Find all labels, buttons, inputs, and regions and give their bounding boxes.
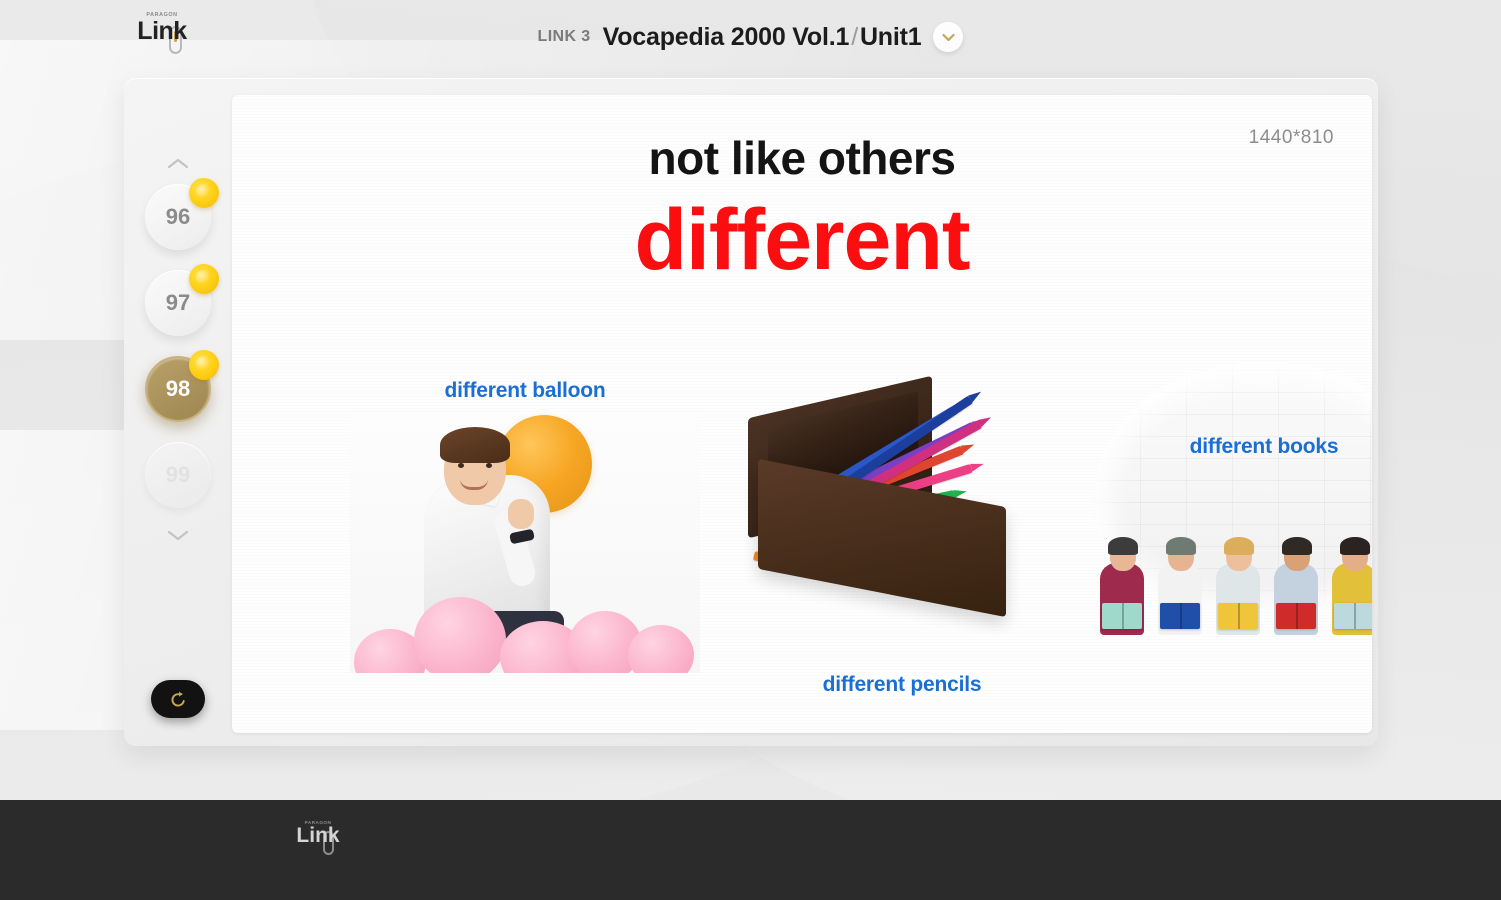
example-label-balloon: different balloon [350,379,700,403]
sidebar-scroll-down-button[interactable] [158,522,198,548]
page-title-right: Unit1 [860,23,922,51]
app-header: PARAGON Link LINK 3 Vocapedia 2000 Vol.1… [0,0,1501,78]
footer-logo-text: Link [296,824,339,847]
reader-4-hair [1282,537,1312,555]
reader-2-hair [1166,537,1196,555]
page-title-left: Vocapedia 2000 Vol.1 [603,23,850,51]
sidebar-item-99-label[interactable]: 99 [145,442,211,508]
chevron-up-icon [166,157,190,170]
chevron-down-icon [166,529,190,542]
slide-canvas: 1440*810 not like others different diffe… [232,95,1372,733]
sidebar-nav: 96 97 98 99 [124,78,232,746]
reader-5-book [1334,603,1372,629]
star-badge-icon [189,264,219,294]
image-colored-pencils [732,375,1072,625]
image-people-reading [1084,353,1372,643]
boy-eye-right [486,463,492,468]
image-boy-with-balloon [350,413,700,673]
sidebar-scroll-up-button[interactable] [158,150,198,176]
sidebar-item-list: 96 97 98 99 [145,184,211,508]
sidebar-item-96[interactable]: 96 [145,184,211,250]
footer-inner: PARAGON Link [0,800,1501,900]
boy-hand-shape [508,499,534,529]
pink-balloon-1 [414,597,506,673]
definition-phrase: not like others [232,131,1372,185]
example-label-books: different books [1084,435,1372,459]
unit-dropdown-button[interactable] [933,22,963,52]
page-title: Vocapedia 2000 Vol.1/Unit1 [603,23,922,52]
vocabulary-word: different [232,191,1372,290]
page-footer: PARAGON Link [0,800,1501,900]
rewind-arrow-icon [169,690,188,709]
chevron-down-icon [942,33,955,42]
header-title-group: LINK 3 Vocapedia 2000 Vol.1/Unit1 [0,22,1501,52]
example-cell-pencils[interactable]: different pencils [732,375,1072,705]
sidebar-item-98[interactable]: 98 [145,356,211,422]
replay-button[interactable] [151,680,205,718]
sidebar-item-99[interactable]: 99 [145,442,211,508]
header-kicker: LINK 3 [538,28,591,46]
example-cell-books[interactable]: different books [1084,353,1372,693]
page-title-separator: / [849,23,860,51]
reader-5-hair [1340,537,1370,555]
footer-logo-word: Link [296,825,339,847]
star-badge-icon [189,178,219,208]
boy-hair-shape [440,427,510,463]
boy-eye-left [458,463,464,468]
reader-1-hair [1108,537,1138,555]
footer-logo[interactable]: PARAGON Link [286,820,350,847]
example-label-pencils: different pencils [732,673,1072,697]
example-cell-balloon[interactable]: different balloon [350,379,700,679]
reader-2-book [1160,603,1200,629]
reader-4-book [1276,603,1316,629]
pencil-box-front [758,459,1006,617]
reader-3-hair [1224,537,1254,555]
reader-3-book [1218,603,1258,629]
lesson-stage: 96 97 98 99 [124,78,1378,746]
sidebar-item-97[interactable]: 97 [145,270,211,336]
example-cells: different balloon [232,365,1372,725]
star-badge-icon [189,350,219,380]
reader-1-book [1102,603,1142,629]
